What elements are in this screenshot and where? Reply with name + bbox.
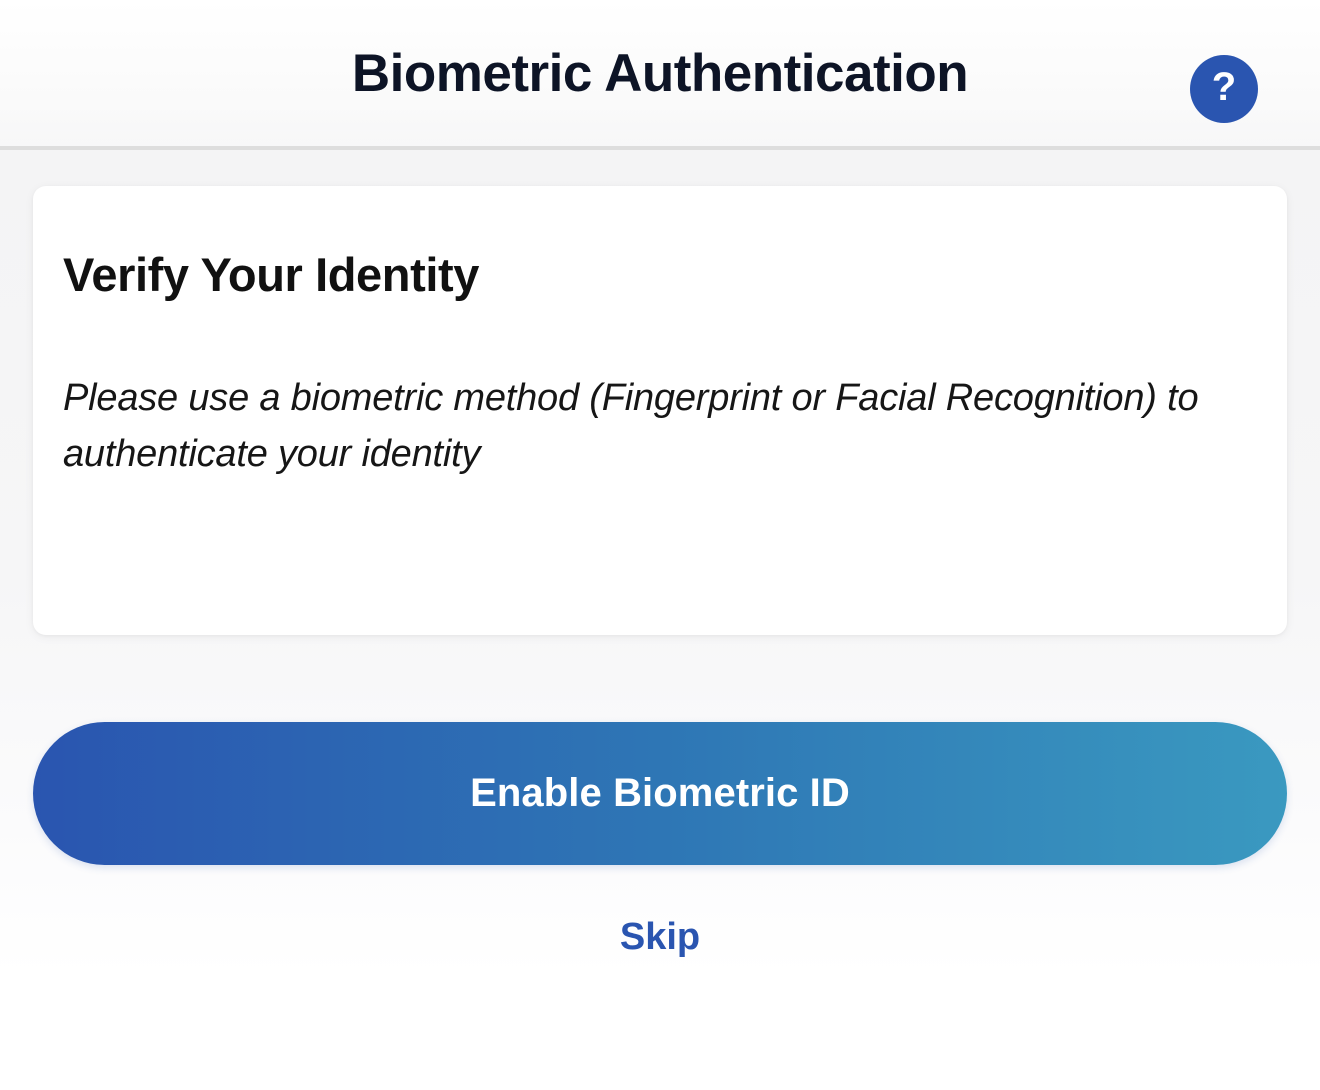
page-title: Biometric Authentication [352, 47, 968, 100]
app-header: Biometric Authentication ? [0, 0, 1320, 150]
enable-biometric-id-button[interactable]: Enable Biometric ID [33, 722, 1287, 865]
card-instruction-text: Please use a biometric method (Fingerpri… [63, 370, 1257, 482]
skip-button[interactable]: Skip [610, 912, 710, 963]
biometric-authentication-screen: Biometric Authentication ? Verify Your I… [0, 0, 1320, 1090]
verify-identity-card: Verify Your Identity Please use a biomet… [33, 186, 1287, 635]
action-area: Enable Biometric ID Skip [33, 722, 1287, 963]
question-mark-icon: ? [1212, 67, 1236, 107]
help-button[interactable]: ? [1190, 55, 1258, 123]
main-content: Verify Your Identity Please use a biomet… [0, 150, 1320, 1090]
card-heading: Verify Your Identity [63, 248, 1257, 302]
